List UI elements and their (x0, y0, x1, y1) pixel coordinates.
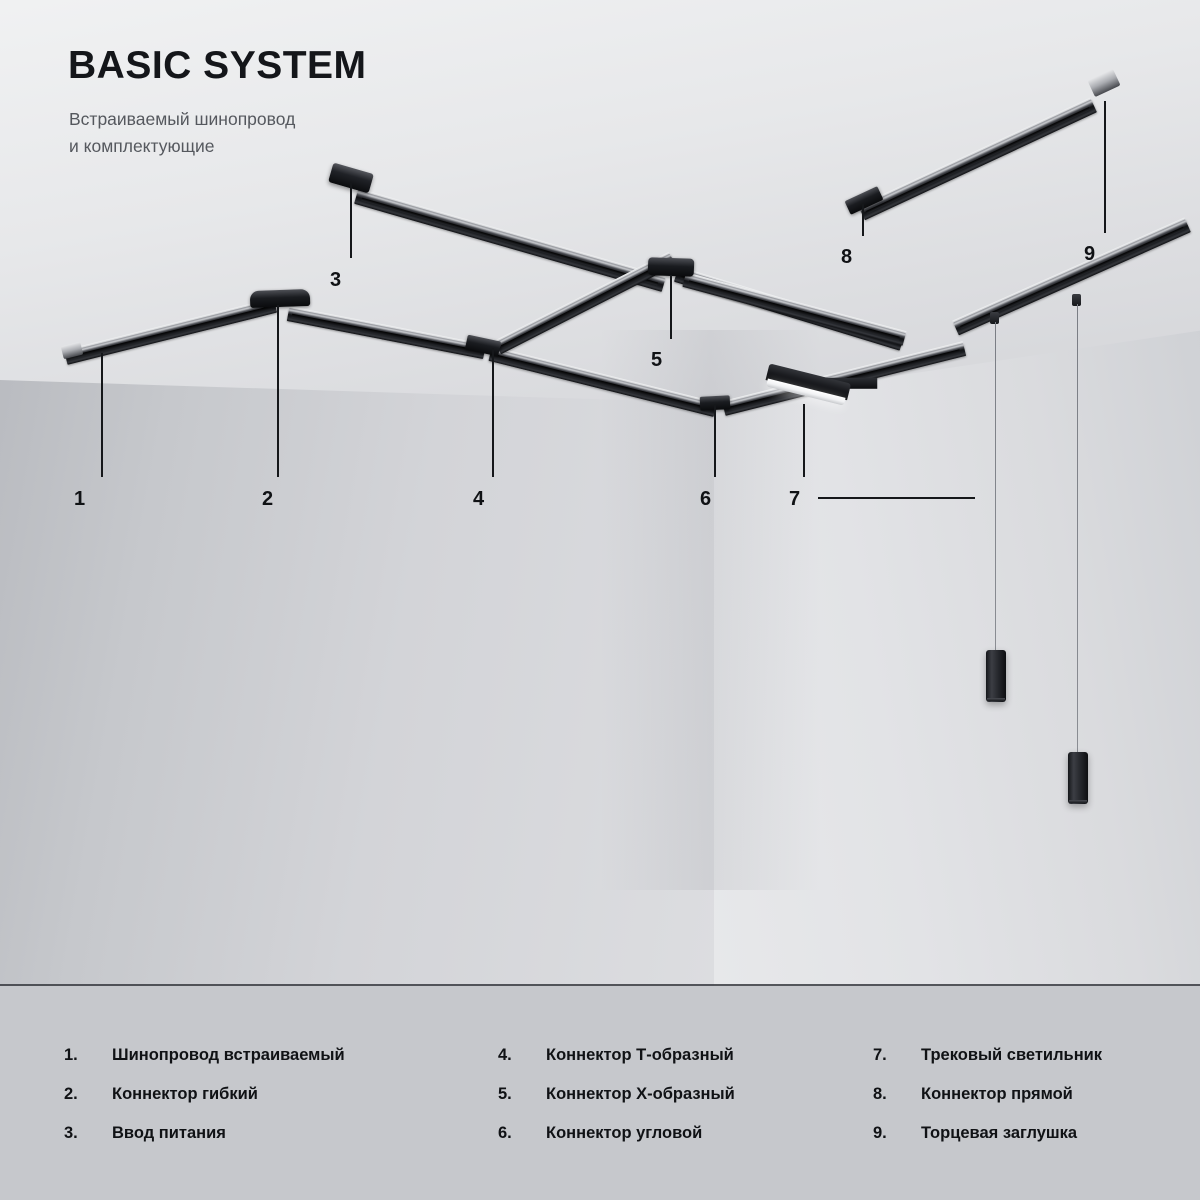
legend-label: Трековый светильник (921, 1046, 1102, 1065)
callout-number-5: 5 (651, 349, 662, 372)
legend-number: 7. (873, 1046, 887, 1065)
page-title: BASIC SYSTEM (68, 44, 367, 88)
callout-number-1: 1 (74, 488, 85, 511)
callout-leader-6 (714, 404, 716, 477)
legend-label: Коннектор прямой (921, 1085, 1073, 1104)
legend-label: Ввод питания (112, 1124, 226, 1143)
legend-label: Коннектор Х-образный (546, 1085, 735, 1104)
legend-label: Коннектор гибкий (112, 1085, 258, 1104)
callout-number-7: 7 (789, 488, 800, 511)
legend-number: 4. (498, 1046, 512, 1065)
callout-leader-1 (101, 353, 103, 477)
legend-number: 6. (498, 1124, 512, 1143)
subtitle-line-2: и комплектующие (69, 133, 295, 160)
render-scene: 1 2 3 4 5 6 7 8 9 BASIC SYSTEM Встраивае… (0, 0, 1200, 986)
legend-label: Торцевая заглушка (921, 1124, 1077, 1143)
subtitle-line-1: Встраиваемый шинопровод (69, 106, 295, 133)
legend-label: Коннектор угловой (546, 1124, 702, 1143)
callout-number-2: 2 (262, 488, 273, 511)
page-subtitle: Встраиваемый шинопровод и комплектующие (69, 106, 295, 160)
legend-number: 1. (64, 1046, 78, 1065)
legend-number: 9. (873, 1124, 887, 1143)
legend-number: 3. (64, 1124, 78, 1143)
pendant-light-1 (986, 650, 1006, 702)
legend-number: 2. (64, 1085, 78, 1104)
pendant-light-2 (1068, 752, 1088, 804)
callout-leader-7-horizontal (818, 497, 975, 499)
legend-number: 8. (873, 1085, 887, 1104)
flexible-connector (250, 289, 311, 308)
callout-leader-8 (862, 204, 864, 236)
pendant-cable-2 (1077, 304, 1078, 754)
callout-leader-4 (492, 348, 494, 477)
x-connector (648, 257, 695, 277)
pendant-cable-1 (995, 322, 996, 652)
callout-number-8: 8 (841, 246, 852, 269)
poster-page: 1 2 3 4 5 6 7 8 9 BASIC SYSTEM Встраивае… (0, 0, 1200, 1200)
callout-number-9: 9 (1084, 243, 1095, 266)
callout-leader-2 (277, 305, 279, 477)
legend-label: Коннектор Т-образный (546, 1046, 734, 1065)
callout-leader-7 (803, 404, 805, 477)
legend-number: 5. (498, 1085, 512, 1104)
legend-bar: 1. Шинопровод встраиваемый 2. Коннектор … (0, 986, 1200, 1200)
callout-leader-9 (1104, 101, 1106, 233)
callout-leader-3 (350, 183, 352, 258)
callout-number-4: 4 (473, 488, 484, 511)
legend-label: Шинопровод встраиваемый (112, 1046, 345, 1065)
callout-number-6: 6 (700, 488, 711, 511)
callout-leader-5 (670, 275, 672, 339)
callout-number-3: 3 (330, 269, 341, 292)
